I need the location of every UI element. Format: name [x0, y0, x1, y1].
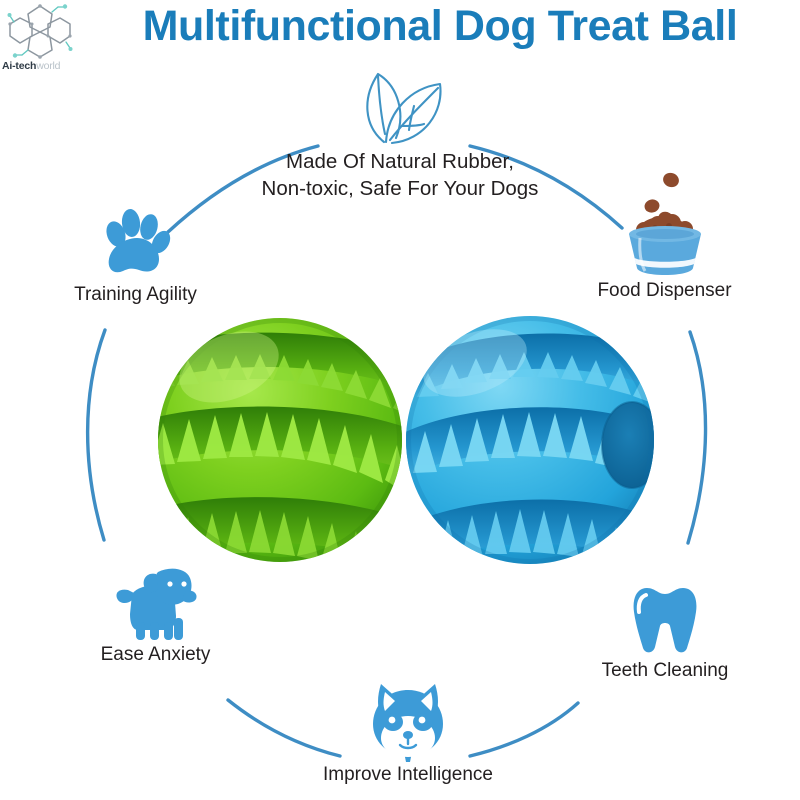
page-title: Multifunctional Dog Treat Ball: [90, 0, 790, 54]
infographic-page: Ai-techworld Multifunctional Dog Treat B…: [0, 0, 800, 800]
brand-logo: Ai-techworld: [2, 2, 90, 80]
green-treat-ball: [145, 317, 437, 575]
feature-label-training-agility: Training Agility: [28, 284, 243, 306]
feature-label-improve-intelligence: Improve Intelligence: [288, 764, 528, 786]
feature-label-teeth-cleaning: Teeth Cleaning: [552, 660, 778, 682]
feature-ease-anxiety[interactable]: Ease Anxiety: [48, 560, 263, 666]
feature-label-food-dispenser: Food Dispenser: [552, 280, 777, 302]
brand-name: Ai-techworld: [2, 60, 90, 72]
brand-name-primary: Ai-tech: [2, 60, 36, 72]
feature-label-ease-anxiety: Ease Anxiety: [48, 644, 263, 666]
feature-teeth-cleaning[interactable]: Teeth Cleaning: [552, 582, 778, 682]
feature-natural-rubber[interactable]: Made Of Natural Rubber,Non-toxic, Safe F…: [230, 64, 570, 202]
dog-food-bowl-icon: [609, 168, 721, 278]
ring-arc-right: [688, 332, 706, 543]
blue-treat-ball: [403, 316, 665, 575]
paw-print-icon: [99, 208, 173, 282]
feature-food-dispenser[interactable]: Food Dispenser: [552, 168, 777, 302]
feature-training-agility[interactable]: Training Agility: [28, 208, 243, 306]
leaves-icon: [352, 64, 448, 146]
shiba-dog-head-icon: [365, 680, 451, 762]
tooth-icon: [627, 582, 703, 658]
standing-dog-icon: [108, 560, 204, 642]
ring-arc-left: [88, 330, 105, 540]
brand-name-secondary: world: [36, 60, 60, 72]
circuit-pinwheel-logo-icon: [6, 2, 74, 60]
feature-improve-intelligence[interactable]: Improve Intelligence: [288, 680, 528, 786]
product-balls-image: [145, 305, 665, 575]
feature-label-natural-rubber: Made Of Natural Rubber,Non-toxic, Safe F…: [230, 148, 570, 202]
